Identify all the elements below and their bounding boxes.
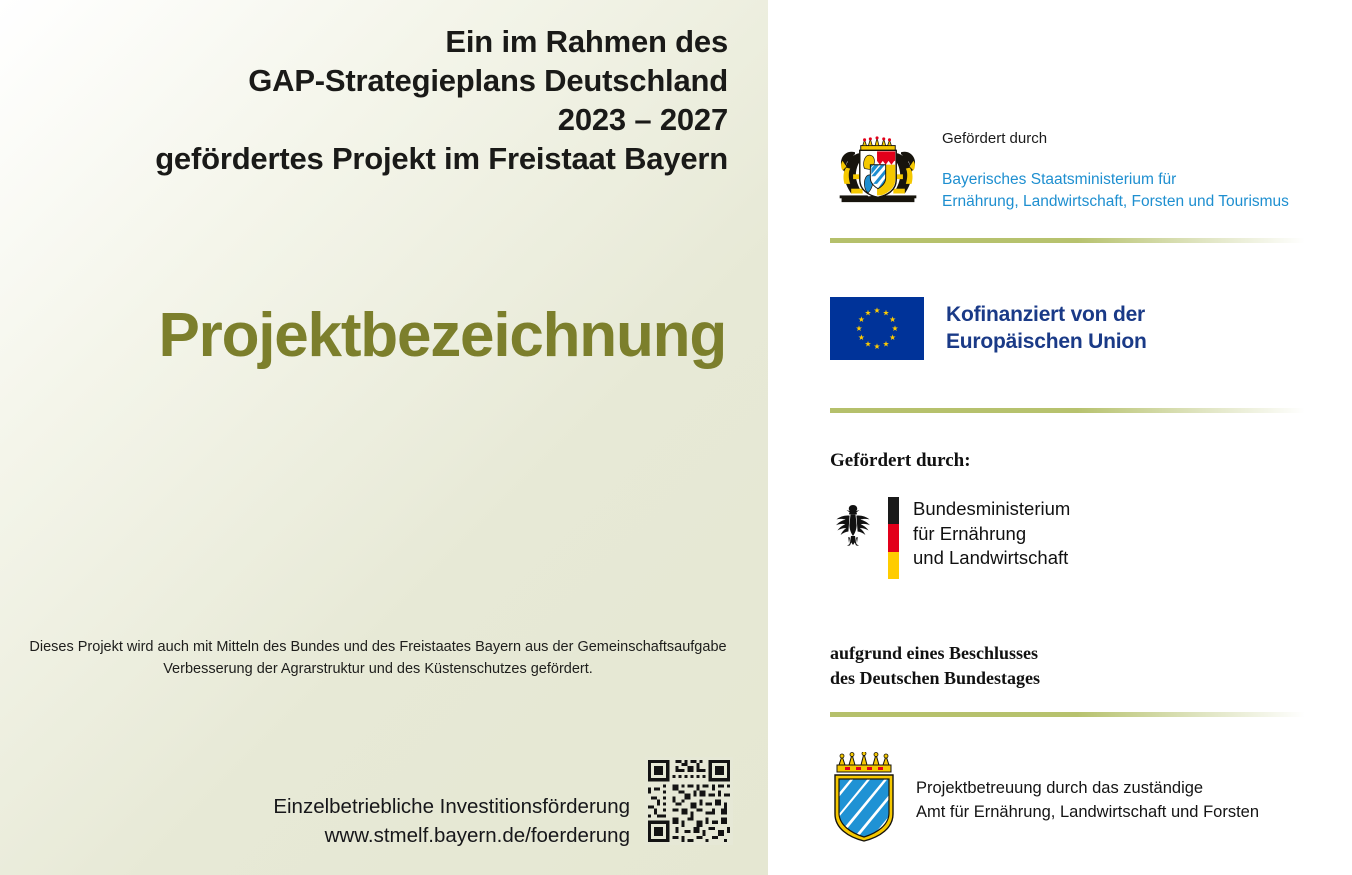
- bavarian-coat-of-arms-icon: [830, 128, 926, 210]
- german-flag-bar-icon: [888, 497, 899, 579]
- aelf-text-line-1: Projektbetreuung durch das zuständige: [916, 777, 1259, 800]
- funding-poster: Ein im Rahmen des GAP-Strategieplans Deu…: [0, 0, 1352, 875]
- flag-stripe-red: [888, 524, 899, 551]
- headline-line-1: Ein im Rahmen des: [28, 22, 728, 61]
- left-panel: Ein im Rahmen des GAP-Strategieplans Deu…: [0, 0, 768, 875]
- headline-line-2: GAP-Strategieplans Deutschland: [28, 61, 728, 100]
- divider-2: [830, 408, 1305, 413]
- bmel-name: Bundesministerium für Ernährung und Land…: [913, 497, 1070, 571]
- stmelf-kicker: Gefördert durch: [942, 130, 1289, 147]
- footer-programme-label: Einzelbetriebliche Investitionsförderung: [180, 792, 630, 821]
- aelf-text: Projektbetreuung durch das zuständige Am…: [916, 777, 1259, 824]
- eu-text-line-2: Europäischen Union: [946, 329, 1147, 355]
- stmelf-name-line-2: Ernährung, Landwirtschaft, Forsten und T…: [942, 191, 1289, 213]
- bmel-name-line-1: Bundesministerium: [913, 497, 1070, 522]
- bmel-kicker: Gefördert durch:: [830, 450, 971, 472]
- federal-eagle-icon: [830, 497, 876, 556]
- stmelf-name-line-1: Bayerisches Staatsministerium für: [942, 169, 1289, 191]
- eu-cofunding-text: Kofinanziert von der Europäischen Union: [946, 302, 1147, 355]
- bmel-logo-block: Bundesministerium für Ernährung und Land…: [830, 497, 1070, 579]
- right-column: Gefördert durch Bayerisches Staatsminist…: [768, 0, 1352, 875]
- bavarian-shield-icon: [830, 752, 898, 849]
- stmelf-logo-block: Gefördert durch Bayerisches Staatsminist…: [830, 128, 1289, 213]
- bmel-footer-text: aufgrund eines Beschlusses des Deutschen…: [830, 641, 1040, 691]
- divider-3: [830, 712, 1305, 717]
- bmel-name-line-2: für Ernährung: [913, 522, 1070, 547]
- footer-url: www.stmelf.bayern.de/foerderung: [180, 821, 630, 850]
- page-title: Projektbezeichnung: [26, 303, 726, 368]
- headline-line-3: 2023 – 2027: [28, 100, 728, 139]
- bmel-name-line-3: und Landwirtschaft: [913, 546, 1070, 571]
- aelf-text-line-2: Amt für Ernährung, Landwirtschaft und Fo…: [916, 801, 1259, 824]
- bmel-footer-line-1: aufgrund eines Beschlusses: [830, 641, 1040, 666]
- funding-note: Dieses Projekt wird auch mit Mitteln des…: [22, 637, 734, 681]
- headline: Ein im Rahmen des GAP-Strategieplans Deu…: [28, 22, 728, 178]
- stmelf-text: Gefördert durch Bayerisches Staatsminist…: [942, 128, 1289, 213]
- flag-stripe-gold: [888, 552, 899, 579]
- qr-code-icon[interactable]: [645, 757, 733, 845]
- stmelf-name: Bayerisches Staatsministerium für Ernähr…: [942, 169, 1289, 213]
- eu-text-line-1: Kofinanziert von der: [946, 302, 1147, 328]
- headline-line-4: gefördertes Projekt im Freistaat Bayern: [28, 139, 728, 178]
- footer-text: Einzelbetriebliche Investitionsförderung…: [180, 792, 630, 850]
- eu-logo-block: Kofinanziert von der Europäischen Union: [830, 297, 1147, 360]
- bmel-footer-line-2: des Deutschen Bundestages: [830, 666, 1040, 691]
- divider-1: [830, 238, 1305, 243]
- flag-stripe-black: [888, 497, 899, 524]
- aelf-logo-block: Projektbetreuung durch das zuständige Am…: [830, 752, 1259, 849]
- european-union-flag-icon: [830, 297, 924, 360]
